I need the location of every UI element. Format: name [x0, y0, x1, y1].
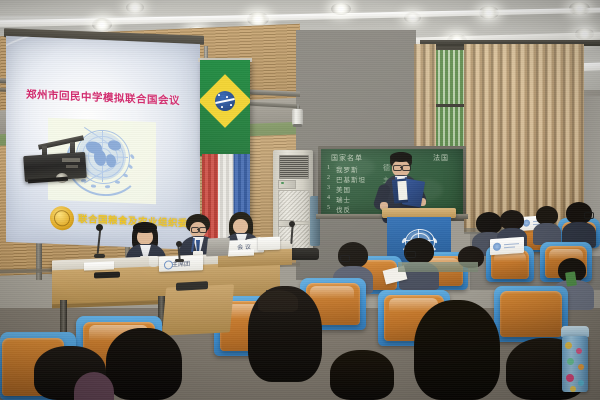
dais-placard-left[interactable]: 主席团 [159, 255, 203, 272]
dais-leg [60, 300, 67, 334]
blackboard-row-text: 美国 [336, 184, 351, 194]
ceiling-downlight [404, 12, 421, 23]
blackboard-row-num: 3 [327, 185, 330, 191]
dais-placard-right[interactable] [258, 237, 280, 251]
slide-gold-seal [50, 206, 74, 231]
blackboard-row-num: 2 [327, 175, 330, 181]
student-face [233, 219, 248, 234]
country-tent-card[interactable] [490, 237, 524, 255]
notebook[interactable] [565, 271, 577, 286]
blackboard-row-text: 瑞士 [336, 194, 351, 204]
speaker-hair-top [390, 152, 412, 162]
blackboard-heading: 国家名单 [331, 153, 363, 163]
blackboard-right-heading: 法国 [433, 153, 449, 163]
ceiling-downlight [126, 2, 144, 13]
blackboard-row-text: 巴基斯坦 [336, 174, 366, 184]
blackboard-row-num: 4 [327, 195, 330, 201]
ceiling-downlight [569, 2, 590, 15]
floor-strip [398, 262, 478, 272]
ceiling-downlight [331, 3, 351, 15]
projection-screen: 郑州市回民中学模拟联合国会议 [6, 36, 200, 250]
blackboard-row-text: 伐反 [336, 204, 351, 214]
brazil-flag [200, 60, 250, 156]
dais-remote[interactable] [94, 272, 120, 279]
ceiling-downlight [92, 18, 112, 31]
ceiling-downlight [247, 12, 269, 26]
window-curtain-main [464, 44, 584, 232]
student-hair-top [133, 222, 157, 233]
lecture-hall-photo: 郑州市回民中学模拟联合国会议 [0, 0, 600, 400]
ceiling-downlight [479, 6, 499, 19]
ceiling-downlight [575, 28, 594, 40]
dais-laptop[interactable] [206, 238, 230, 257]
blackboard-row-num: 1 [327, 165, 330, 171]
blackboard-row-num: 5 [327, 205, 330, 211]
dais-cup[interactable] [149, 256, 158, 267]
dais-paper-stack[interactable] [228, 250, 254, 257]
blackboard-row-text: 我罗斯 [336, 164, 359, 174]
folder-paper [397, 181, 407, 201]
dais-paper-stack[interactable] [84, 261, 114, 270]
audience-desk [162, 284, 234, 336]
desk-device[interactable] [176, 281, 208, 291]
seat-back [500, 291, 562, 337]
